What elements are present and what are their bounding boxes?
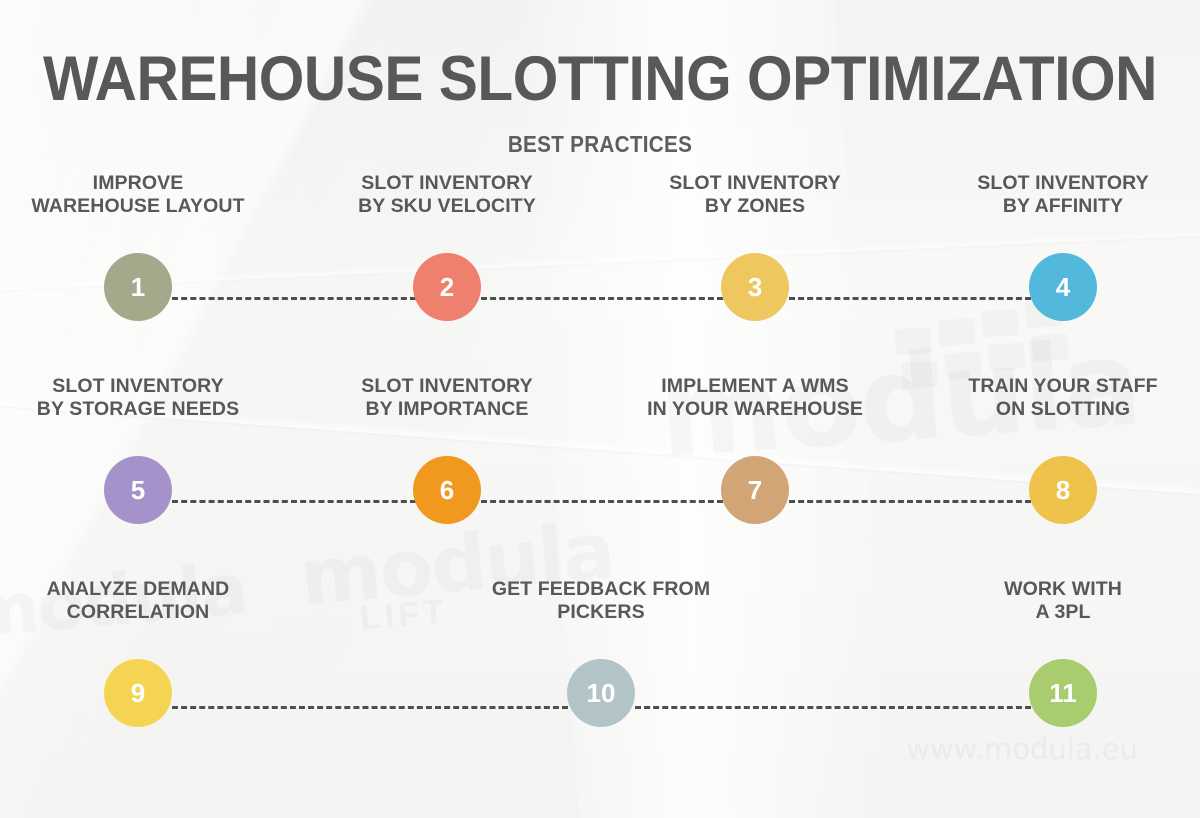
steps-container: IMPROVE WAREHOUSE LAYOUT 1 SLOT INVENTOR… — [0, 172, 1200, 788]
step-1-number-badge[interactable]: 1 — [104, 253, 172, 321]
step-4[interactable]: SLOT INVENTORY BY AFFINITY 4 — [913, 172, 1200, 321]
step-2-label: SLOT INVENTORY BY SKU VELOCITY — [297, 172, 597, 224]
step-row-3: ANALYZE DEMAND CORRELATION 9 GET FEEDBAC… — [0, 578, 1200, 788]
step-5-label: SLOT INVENTORY BY STORAGE NEEDS — [0, 375, 288, 427]
step-7[interactable]: IMPLEMENT A WMS IN YOUR WAREHOUSE 7 — [605, 375, 905, 524]
step-2-number-badge[interactable]: 2 — [413, 253, 481, 321]
step-5-number-badge[interactable]: 5 — [104, 456, 172, 524]
step-1[interactable]: IMPROVE WAREHOUSE LAYOUT 1 — [0, 172, 288, 321]
step-6-label: SLOT INVENTORY BY IMPORTANCE — [297, 375, 597, 427]
step-8[interactable]: TRAIN YOUR STAFF ON SLOTTING 8 — [913, 375, 1200, 524]
step-2[interactable]: SLOT INVENTORY BY SKU VELOCITY 2 — [297, 172, 597, 321]
page-title: WAREHOUSE SLOTTING OPTIMIZATION — [42, 48, 1158, 111]
step-4-label: SLOT INVENTORY BY AFFINITY — [913, 172, 1200, 224]
step-8-number-badge[interactable]: 8 — [1029, 456, 1097, 524]
step-10-number-badge[interactable]: 10 — [567, 659, 635, 727]
header: WAREHOUSE SLOTTING OPTIMIZATION BEST PRA… — [0, 0, 1200, 158]
step-4-number-badge[interactable]: 4 — [1029, 253, 1097, 321]
step-11[interactable]: WORK WITH A 3PL 11 — [913, 578, 1200, 727]
step-9-number-badge[interactable]: 9 — [104, 659, 172, 727]
step-7-number-badge[interactable]: 7 — [721, 456, 789, 524]
step-7-label: IMPLEMENT A WMS IN YOUR WAREHOUSE — [605, 375, 905, 427]
step-6-number-badge[interactable]: 6 — [413, 456, 481, 524]
step-9[interactable]: ANALYZE DEMAND CORRELATION 9 — [0, 578, 288, 727]
step-9-label: ANALYZE DEMAND CORRELATION — [0, 578, 288, 630]
step-3[interactable]: SLOT INVENTORY BY ZONES 3 — [605, 172, 905, 321]
step-1-label: IMPROVE WAREHOUSE LAYOUT — [0, 172, 288, 224]
step-3-label: SLOT INVENTORY BY ZONES — [605, 172, 905, 224]
step-5[interactable]: SLOT INVENTORY BY STORAGE NEEDS 5 — [0, 375, 288, 524]
step-8-label: TRAIN YOUR STAFF ON SLOTTING — [913, 375, 1200, 427]
step-11-number-badge[interactable]: 11 — [1029, 659, 1097, 727]
step-10-label: GET FEEDBACK FROM PICKERS — [451, 578, 751, 630]
step-6[interactable]: SLOT INVENTORY BY IMPORTANCE 6 — [297, 375, 597, 524]
step-11-label: WORK WITH A 3PL — [913, 578, 1200, 630]
step-10[interactable]: GET FEEDBACK FROM PICKERS 10 — [451, 578, 751, 727]
page-subtitle: BEST PRACTICES — [60, 131, 1140, 158]
step-row-2: SLOT INVENTORY BY STORAGE NEEDS 5 SLOT I… — [0, 375, 1200, 578]
step-3-number-badge[interactable]: 3 — [721, 253, 789, 321]
step-row-1: IMPROVE WAREHOUSE LAYOUT 1 SLOT INVENTOR… — [0, 172, 1200, 375]
